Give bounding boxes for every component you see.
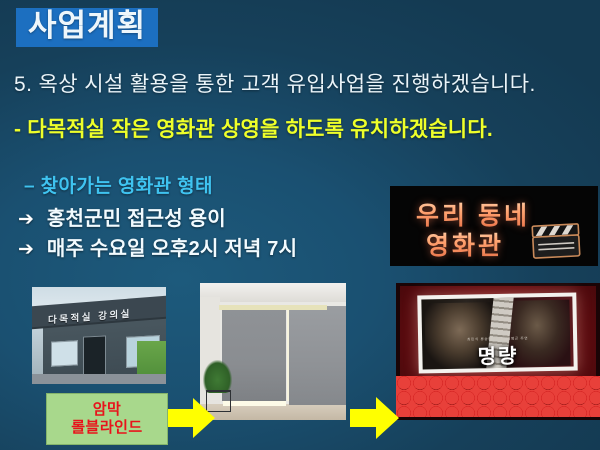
building-ground	[32, 374, 166, 384]
room-ceiling	[200, 283, 346, 302]
callout-blackout-blind: 암막 롤블라인드	[46, 393, 168, 445]
potted-plant	[203, 360, 232, 393]
arrow-right-icon: ➔	[18, 210, 34, 229]
bullet-header: – 찾아가는 영화관 형태	[24, 177, 213, 196]
yellow-arrow-right-icon-2	[350, 393, 400, 443]
cinema-seats	[396, 376, 600, 417]
movie-poster: 최민식 류승룡 조진웅 김명곤 주연 명량	[422, 297, 574, 370]
roller-blind-rail	[219, 305, 327, 310]
page-title: 사업계획	[16, 8, 158, 47]
photo-multipurpose-building: 다목적실 강의실	[32, 287, 166, 384]
roller-blind-right	[289, 306, 346, 405]
bullet-item-2: ➔ 매주 수요일 오후2시 저녁 7시	[18, 239, 297, 259]
brand-logo-line-2: 영화관	[426, 226, 504, 262]
building-window-left	[51, 341, 78, 368]
callout-line-2: 롤블라인드	[71, 420, 143, 436]
slide-canvas: 사업계획 5. 옥상 시설 활용을 통한 고객 유입사업을 진행하겠습니다. -…	[0, 0, 600, 450]
photo-small-cinema-hall: 최민식 류승룡 조진웅 김명곤 주연 명량	[396, 283, 600, 420]
body-line-2: - 다목적실 작은 영화관 상영을 하도록 유치하겠습니다.	[14, 119, 493, 140]
cinema-brand-logo-image: 우리 동네 영화관	[390, 186, 598, 266]
page-title-text: 사업계획	[28, 10, 146, 41]
body-line-1: 5. 옥상 시설 활용을 통한 고객 유입사업을 진행하겠습니다.	[14, 74, 536, 95]
cinema-screen: 최민식 류승룡 조진웅 김명곤 주연 명량	[418, 292, 579, 373]
bullet-item-2-label: 매주 수요일 오후2시 저녁 7시	[47, 239, 297, 259]
bullet-item-1: ➔ 홍천군민 접근성 용이	[18, 209, 226, 229]
bullet-item-1-label: 홍천군민 접근성 용이	[47, 209, 226, 229]
photo-blackout-roller-blinds	[200, 283, 346, 420]
clapperboard-icon	[530, 222, 582, 260]
arrow-right-icon: ➔	[18, 240, 34, 259]
yellow-arrow-right-icon-1	[168, 394, 216, 442]
callout-line-1: 암막	[93, 402, 122, 418]
poster-title: 명량	[423, 345, 574, 368]
